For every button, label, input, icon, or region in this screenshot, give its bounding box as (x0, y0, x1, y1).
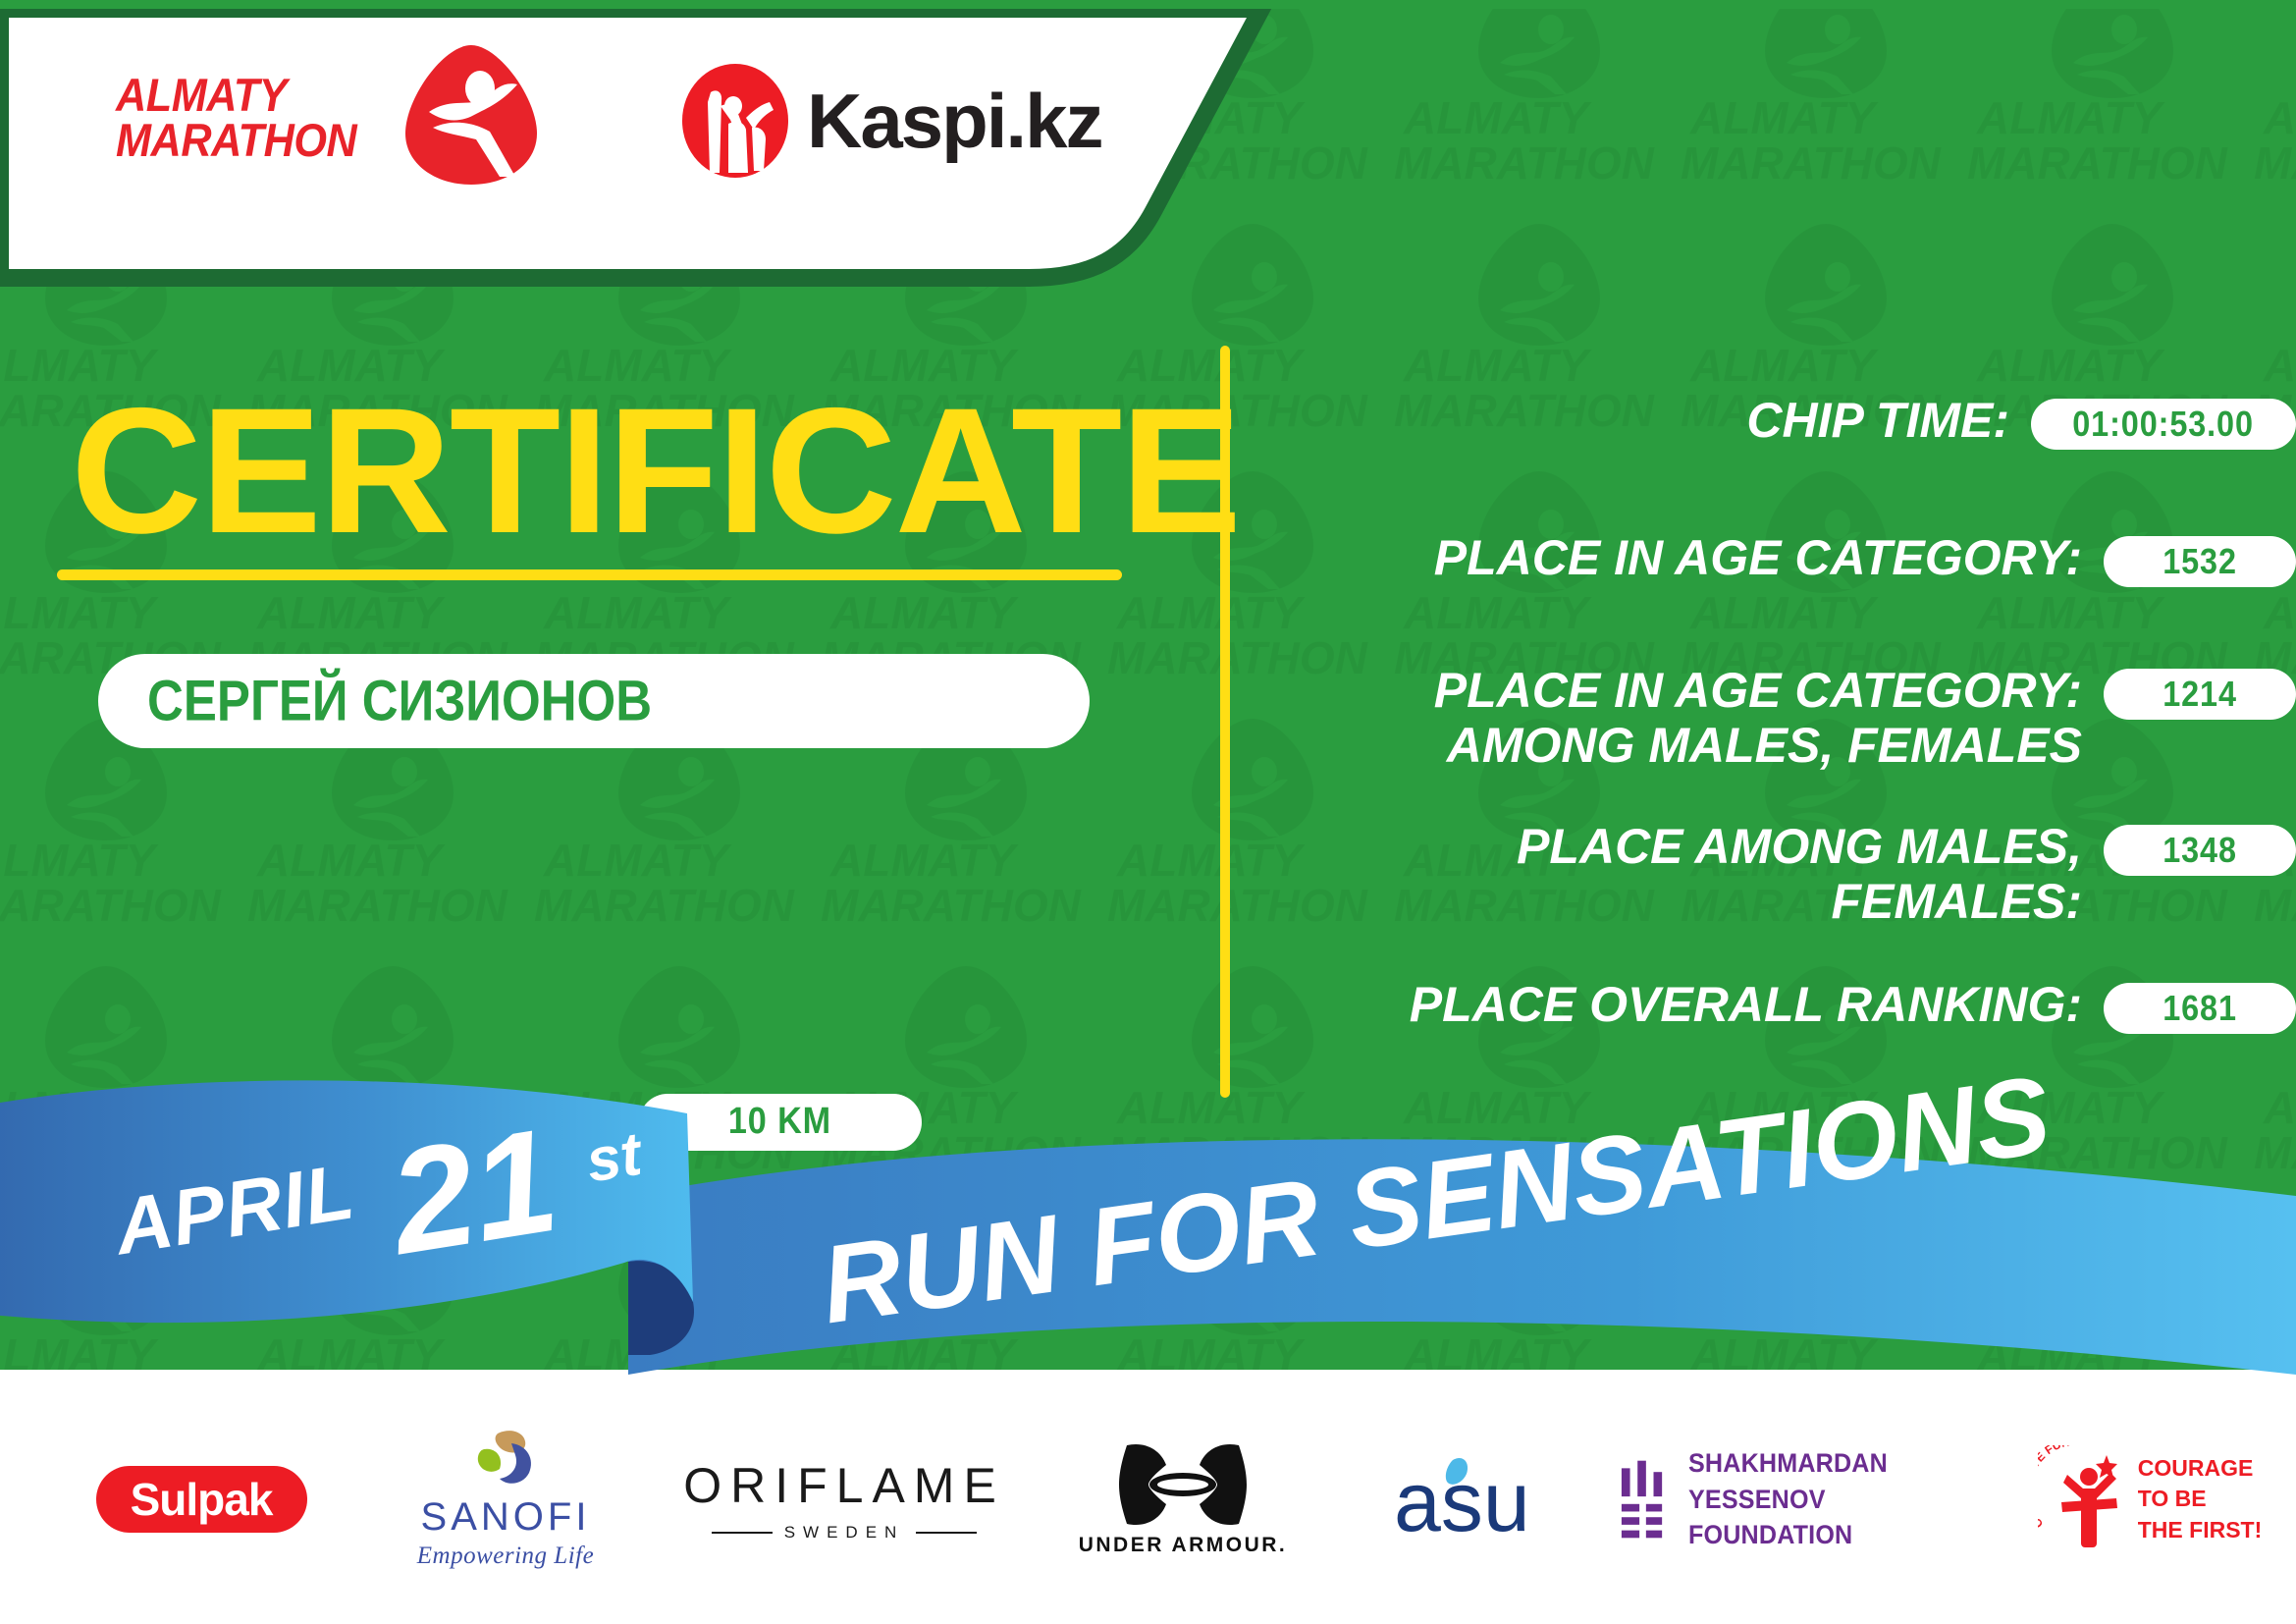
courage-line2: TO BE (2138, 1484, 2263, 1514)
result-value: 1348 (2163, 830, 2237, 871)
result-label: PLACE IN AGE CATEGORY: (1230, 530, 2104, 585)
oriflame-logo: ORIFLAME SWEDEN (683, 1457, 1005, 1543)
asu-icon: asu (1394, 1454, 1561, 1544)
result-value-pill: 1681 (2104, 983, 2296, 1034)
title-underline (57, 569, 1122, 580)
yessenov-wordmark: SHAKHMARDAN YESSENOV FOUNDATION (1688, 1445, 2017, 1552)
result-row: PLACE IN AGE CATEGORY:AMONG MALES, FEMAL… (1230, 663, 2296, 773)
sponsor-yessenov-foundation: SHAKHMARDAN YESSENOV FOUNDATION (1620, 1375, 2042, 1624)
yessenov-mark-icon (1620, 1459, 1667, 1540)
result-value: 01:00:53.00 (2073, 404, 2255, 445)
almaty-line1: ALMATY (116, 73, 359, 118)
almaty-marathon-wordmark: ALMATY MARATHON (116, 73, 359, 163)
sanofi-wordmark: SANOFI (417, 1495, 594, 1540)
yessenov-line2: FOUNDATION (1688, 1517, 2017, 1552)
almaty-line2: MARATHON (116, 118, 359, 163)
result-value-pill: 1532 (2104, 536, 2296, 587)
results-column: CHIP TIME: 01:00:53.00 PLACE IN AGE CATE… (1230, 295, 2296, 1100)
ribbon-day: 21 (379, 1095, 567, 1288)
result-label: PLACE OVERALL RANKING: (1230, 977, 2104, 1032)
kaspi-wordmark: Kaspi.kz (807, 77, 1101, 166)
result-value-pill: 01:00:53.00 (2031, 399, 2296, 450)
sanofi-mark-icon (468, 1430, 543, 1487)
kaspi-people-icon (677, 63, 793, 179)
yessenov-logo: SHAKHMARDAN YESSENOV FOUNDATION (1620, 1445, 2042, 1552)
courage-wordmark: COURAGE TO BE THE FIRST! (2138, 1453, 2263, 1544)
athlete-name-value: СЕРГЕЙ СИЗИОНОВ (147, 669, 652, 734)
result-row: PLACE OVERALL RANKING: 1681 (1230, 977, 2296, 1034)
result-label: PLACE IN AGE CATEGORY:AMONG MALES, FEMAL… (1230, 663, 2104, 773)
sanofi-logo: SANOFI Empowering Life (417, 1430, 594, 1570)
certificate-page: ALMATY MARATHON ALMATY MARATHON (0, 0, 2296, 1624)
sponsor-oriflame: ORIFLAME SWEDEN (677, 1375, 1011, 1624)
result-row: PLACE AMONG MALES,FEMALES: 1348 (1230, 819, 2296, 929)
almaty-marathon-logo: ALMATY MARATHON (116, 47, 479, 185)
sponsor-courage-fund: CORPORATE FUND COURAGE TO BE THE FIRST! (2022, 1375, 2277, 1624)
athlete-name-field: СЕРГЕЙ СИЗИОНОВ (98, 654, 1090, 748)
sulpak-logo: Sulpak (96, 1466, 307, 1533)
oriflame-wordmark: ORIFLAME (683, 1457, 1005, 1514)
kaspi-logo: Kaspi.kz (677, 61, 1099, 179)
under-armour-wordmark: UNDER ARMOUR. (1079, 1534, 1288, 1557)
courage-line3: THE FIRST! (2138, 1515, 2263, 1545)
yessenov-line1: SHAKHMARDAN YESSENOV (1688, 1445, 2017, 1517)
almaty-runner-drop-icon (398, 41, 545, 189)
under-armour-icon (1119, 1441, 1247, 1526)
result-row: CHIP TIME: 01:00:53.00 (1230, 393, 2296, 450)
result-value: 1214 (2163, 674, 2237, 715)
sponsor-under-armour: UNDER ARMOUR. (1041, 1375, 1325, 1624)
header-logos: ALMATY MARATHON Kaspi.kz (0, 0, 1178, 285)
sanofi-tagline: Empowering Life (417, 1543, 594, 1570)
page-title: CERTIFICATE (71, 381, 1240, 560)
courage-logo: CORPORATE FUND COURAGE TO BE THE FIRST! (2038, 1445, 2263, 1553)
sulpak-wordmark: Sulpak (131, 1473, 273, 1526)
courage-line1: COURAGE (2138, 1453, 2263, 1484)
result-value: 1532 (2163, 541, 2237, 582)
result-label: CHIP TIME: (1230, 393, 2031, 448)
oriflame-tagline: SWEDEN (784, 1523, 905, 1543)
result-label: PLACE AMONG MALES,FEMALES: (1230, 819, 2104, 929)
vertical-yellow-divider (1220, 346, 1230, 1098)
sponsor-bar: Sulpak SANOFI Empowering Life ORIFLAME S… (0, 1375, 2296, 1624)
result-value-pill: 1214 (2104, 669, 2296, 720)
oriflame-rule-left (712, 1532, 773, 1534)
result-value: 1681 (2163, 988, 2237, 1029)
sponsor-sanofi: SANOFI Empowering Life (363, 1375, 648, 1624)
ribbon-ordinal: st (581, 1119, 646, 1197)
left-column: CERTIFICATE СЕРГЕЙ СИЗИОНОВ DISTANCE: 10… (0, 295, 1207, 1080)
result-value-pill: 1348 (2104, 825, 2296, 876)
sponsor-asu: asu (1345, 1375, 1610, 1624)
asu-logo: asu (1394, 1454, 1561, 1544)
sponsor-sulpak: Sulpak (59, 1375, 344, 1624)
oriflame-rule-right (916, 1532, 977, 1534)
courage-figure-icon: CORPORATE FUND (2038, 1445, 2128, 1553)
result-row: PLACE IN AGE CATEGORY: 1532 (1230, 530, 2296, 587)
under-armour-logo: UNDER ARMOUR. (1079, 1441, 1288, 1557)
